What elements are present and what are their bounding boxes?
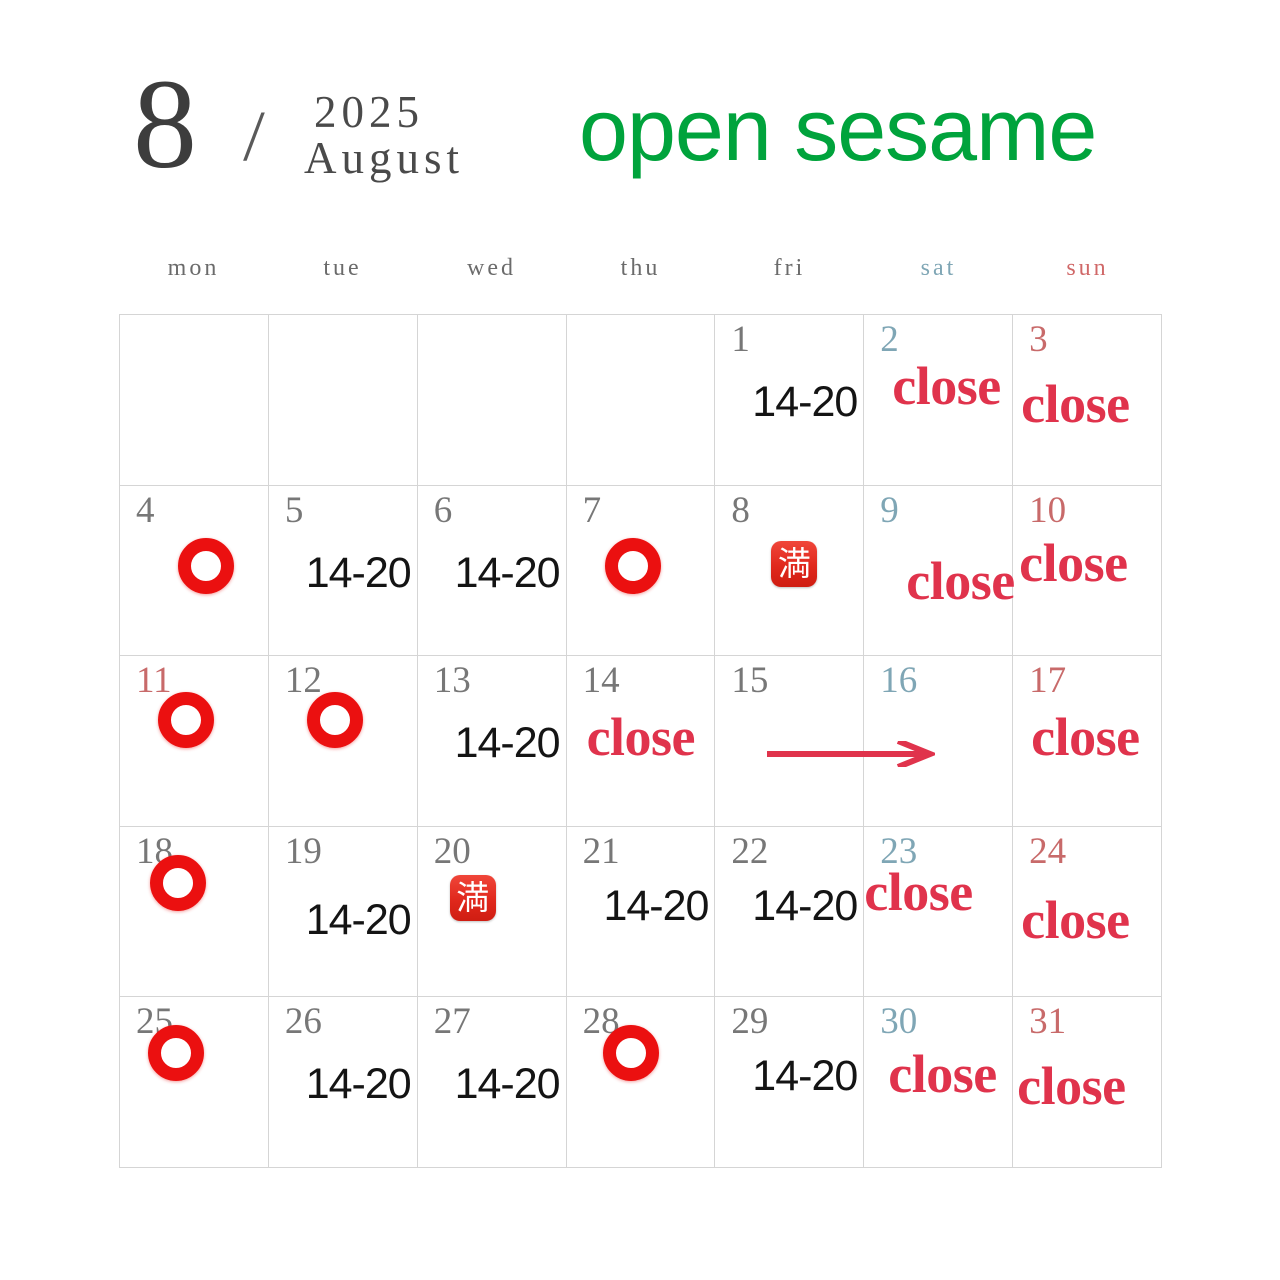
day-number: 19 [285,833,322,870]
day-cell-12[interactable]: 12 [269,656,418,827]
day-cell-18[interactable]: 18 [120,827,269,998]
day-cell-10[interactable]: 10close [1013,486,1162,657]
brand-title: open sesame [579,78,1096,182]
day-cell-21[interactable]: 2114-20 [567,827,716,998]
day-number: 2 [880,321,899,358]
day-number: 27 [434,1003,471,1040]
day-cell-2[interactable]: 2close [864,315,1013,486]
day-cell-29[interactable]: 2914-20 [715,997,864,1168]
day-number: 15 [731,662,768,699]
day-cell-3[interactable]: 3close [1013,315,1162,486]
year-label: 2025 [304,90,464,136]
day-number: 16 [880,662,917,699]
day-cell-empty [269,315,418,486]
red-circle-icon [178,538,234,594]
day-number: 6 [434,492,453,529]
day-cell-13[interactable]: 1314-20 [418,656,567,827]
closed-label: close [1019,536,1127,590]
red-circle-icon [603,1025,659,1081]
day-cell-25[interactable]: 25 [120,997,269,1168]
closed-label: close [1017,1059,1125,1113]
header-separator: / [243,100,266,172]
weekday-header-sat: sat [864,255,1013,282]
fully-booked-badge-label: 満 [778,547,811,580]
closed-label: close [1021,893,1129,947]
open-hours-label: 14-20 [455,722,560,765]
year-month-block: 2025 August [304,90,464,182]
day-number: 26 [285,1003,322,1040]
open-hours-label: 14-20 [752,381,857,424]
day-cell-7[interactable]: 7 [567,486,716,657]
closed-label: close [892,359,1000,413]
day-cell-empty [567,315,716,486]
red-circle-icon [158,692,214,748]
day-cell-4[interactable]: 4 [120,486,269,657]
open-hours-label: 14-20 [306,552,411,595]
day-cell-9[interactable]: 9close [864,486,1013,657]
day-number: 14 [583,662,620,699]
closed-label: close [864,865,972,919]
day-cell-8[interactable]: 8満 [715,486,864,657]
red-circle-icon [605,538,661,594]
day-number: 9 [880,492,899,529]
closed-label: close [1031,710,1139,764]
fully-booked-badge: 満 [771,541,817,587]
fully-booked-badge-label: 満 [456,881,489,914]
month-number: 8 [133,60,197,188]
day-number: 31 [1029,1003,1066,1040]
day-number: 7 [583,492,602,529]
closed-label: close [888,1047,996,1101]
red-circle-icon [148,1025,204,1081]
weekday-header-fri: fri [715,255,864,282]
day-number: 11 [136,662,172,699]
closed-label: close [906,554,1014,608]
open-hours-label: 14-20 [752,885,857,928]
weekday-header-tue: tue [268,255,417,282]
day-cell-20[interactable]: 20満 [418,827,567,998]
day-cell-28[interactable]: 28 [567,997,716,1168]
day-cell-6[interactable]: 614-20 [418,486,567,657]
day-number: 20 [434,833,471,870]
open-hours-label: 14-20 [752,1055,857,1098]
day-cell-empty [120,315,269,486]
day-number: 4 [136,492,155,529]
day-cell-19[interactable]: 1914-20 [269,827,418,998]
day-cell-11[interactable]: 11 [120,656,269,827]
day-cell-5[interactable]: 514-20 [269,486,418,657]
day-number: 22 [731,833,768,870]
day-number: 13 [434,662,471,699]
day-cell-23[interactable]: 23close [864,827,1013,998]
calendar-header: 8 / 2025 August open sesame [119,78,1164,218]
day-cell-22[interactable]: 2214-20 [715,827,864,998]
fully-booked-badge: 満 [450,875,496,921]
red-circle-icon [307,692,363,748]
red-circle-icon [150,855,206,911]
open-hours-label: 14-20 [603,885,708,928]
day-number: 5 [285,492,304,529]
weekday-header-thu: thu [566,255,715,282]
day-number: 30 [880,1003,917,1040]
day-cell-31[interactable]: 31close [1013,997,1162,1168]
day-number: 1 [731,321,750,358]
month-name-label: August [304,136,464,182]
day-cell-1[interactable]: 114-20 [715,315,864,486]
day-cell-24[interactable]: 24close [1013,827,1162,998]
closed-label: close [1021,377,1129,431]
day-number: 8 [731,492,750,529]
day-number: 29 [731,1003,768,1040]
open-hours-label: 14-20 [455,1063,560,1106]
day-number: 10 [1029,492,1066,529]
day-cell-17[interactable]: 17close [1013,656,1162,827]
day-number: 3 [1029,321,1048,358]
day-number: 21 [583,833,620,870]
day-number: 17 [1029,662,1066,699]
weekday-header-mon: mon [119,255,268,282]
open-hours-label: 14-20 [455,552,560,595]
weekday-header-wed: wed [417,255,566,282]
day-number: 12 [285,662,322,699]
continuation-arrow [767,741,935,767]
day-cell-27[interactable]: 2714-20 [418,997,567,1168]
weekday-header-sun: sun [1013,255,1162,282]
weekday-header-row: montuewedthufrisatsun [119,255,1162,282]
closed-label: close [587,710,695,764]
day-cell-30[interactable]: 30close [864,997,1013,1168]
calendar-grid: 114-202close3close4514-20614-2078満9close… [119,314,1162,1168]
day-cell-14[interactable]: 14close [567,656,716,827]
open-hours-label: 14-20 [306,899,411,942]
day-cell-empty [418,315,567,486]
day-number: 24 [1029,833,1066,870]
open-hours-label: 14-20 [306,1063,411,1106]
day-cell-26[interactable]: 2614-20 [269,997,418,1168]
